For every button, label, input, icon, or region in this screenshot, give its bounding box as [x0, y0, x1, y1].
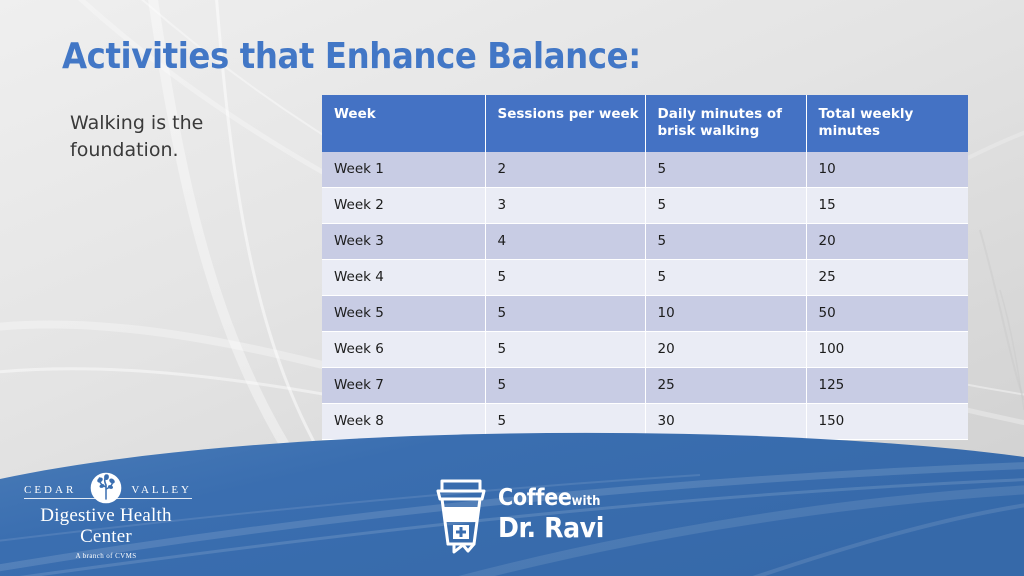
coffee-logo-coffee: Coffee: [498, 485, 572, 511]
column-header-daily: Daily minutes of brisk walking: [645, 95, 806, 152]
cell-total: 125: [806, 367, 968, 403]
coffee-cup-medical-cross-icon: [430, 478, 492, 554]
cedar-valley-wordmark-top: CEDAR VALLEY: [18, 472, 194, 502]
walking-schedule-table: Week Sessions per week Daily minutes of …: [322, 95, 968, 440]
column-header-total: Total weekly minutes: [806, 95, 968, 152]
cell-daily: 20: [645, 331, 806, 367]
table-row: Week 7 5 25 125: [322, 367, 968, 403]
column-header-week: Week: [322, 95, 485, 152]
cell-daily: 5: [645, 223, 806, 259]
table-row: Week 5 5 10 50: [322, 295, 968, 331]
table-row: Week 3 4 5 20: [322, 223, 968, 259]
cell-sessions: 5: [485, 259, 645, 295]
cell-sessions: 5: [485, 367, 645, 403]
cell-sessions: 3: [485, 187, 645, 223]
cell-week: Week 5: [322, 295, 485, 331]
cell-total: 15: [806, 187, 968, 223]
cell-week: Week 6: [322, 331, 485, 367]
cedar-valley-logo: CEDAR VALLEY: [18, 472, 194, 560]
cell-total: 25: [806, 259, 968, 295]
cell-daily: 5: [645, 187, 806, 223]
cell-total: 100: [806, 331, 968, 367]
cell-sessions: 4: [485, 223, 645, 259]
cell-sessions: 5: [485, 331, 645, 367]
cell-total: 20: [806, 223, 968, 259]
table-row: Week 1 2 5 10: [322, 152, 968, 188]
cedar-valley-word-right: VALLEY: [131, 484, 192, 496]
cell-sessions: 5: [485, 295, 645, 331]
coffee-logo-line1: Coffeewith: [498, 486, 604, 512]
body-text: Walking is the foundation.: [70, 110, 285, 164]
coffee-logo-with: with: [572, 494, 601, 509]
cell-week: Week 1: [322, 152, 485, 188]
table-body: Week 1 2 5 10 Week 2 3 5 15 Week 3 4 5 2…: [322, 152, 968, 440]
cell-daily: 5: [645, 152, 806, 188]
column-header-sessions: Sessions per week: [485, 95, 645, 152]
table-row: Week 2 3 5 15: [322, 187, 968, 223]
table-row: Week 4 5 5 25: [322, 259, 968, 295]
cell-daily: 10: [645, 295, 806, 331]
cell-week: Week 4: [322, 259, 485, 295]
cell-daily: 25: [645, 367, 806, 403]
cell-week: Week 2: [322, 187, 485, 223]
cell-week: Week 7: [322, 367, 485, 403]
cell-total: 10: [806, 152, 968, 188]
cell-sessions: 2: [485, 152, 645, 188]
cedar-valley-word-left: CEDAR: [24, 484, 76, 496]
tree-circle-icon: [90, 472, 122, 504]
slide-canvas: Activities that Enhance Balance: Walking…: [0, 0, 1024, 576]
page-title: Activities that Enhance Balance:: [62, 36, 641, 77]
table-header-row: Week Sessions per week Daily minutes of …: [322, 95, 968, 152]
coffee-logo-text: Coffeewith Dr. Ravi: [498, 486, 604, 543]
cedar-valley-name: Digestive Health Center: [18, 506, 194, 548]
coffee-logo-line2: Dr. Ravi: [498, 512, 604, 543]
coffee-with-dr-ravi-logo: Coffeewith Dr. Ravi: [430, 478, 620, 554]
cell-daily: 5: [645, 259, 806, 295]
cedar-valley-tagline: A branch of CVMS: [18, 552, 194, 560]
cell-week: Week 3: [322, 223, 485, 259]
table-row: Week 6 5 20 100: [322, 331, 968, 367]
cell-total: 50: [806, 295, 968, 331]
